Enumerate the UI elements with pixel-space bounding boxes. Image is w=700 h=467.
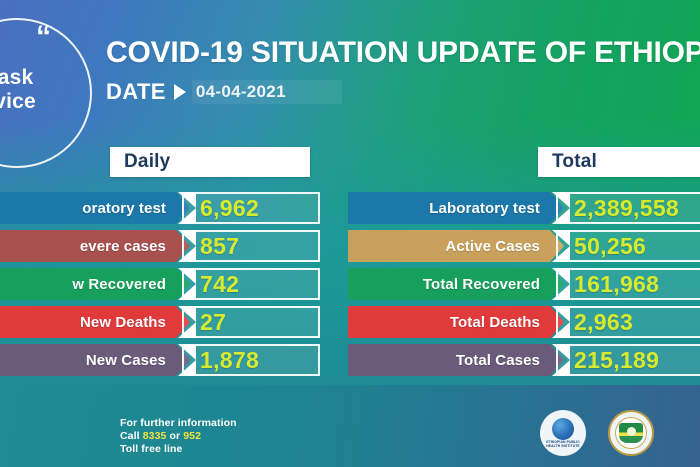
stat-row-label: oratory test xyxy=(0,192,190,224)
stat-row-value: 742 xyxy=(182,268,320,300)
hotline-number-2: 952 xyxy=(183,430,201,442)
stat-row-value: 2,963 xyxy=(556,306,700,338)
stat-row-value: 1,878 xyxy=(182,344,320,376)
daily-column-header-label: Daily xyxy=(110,151,170,173)
hotline-number-1: 8335 xyxy=(143,430,167,442)
footer-line-1: For further information xyxy=(120,417,237,430)
page-title: COVID-19 SITUATION UPDATE OF ETHIOPI xyxy=(106,36,700,70)
stat-row-value: 2,389,558 xyxy=(556,192,700,224)
footer-contact-info: For further information Call 8335 or 952… xyxy=(120,417,237,456)
stat-row-label: w Recovered xyxy=(0,268,190,300)
who-logo-caption: ETHIOPIAN PUBLIC HEALTH INSTITUTE xyxy=(540,440,586,448)
stat-row-label: Total Deaths xyxy=(348,306,564,338)
stat-row-value: 27 xyxy=(182,306,320,338)
daily-column-header: Daily xyxy=(110,147,310,177)
triangle-right-icon xyxy=(174,84,186,100)
footer-line-3: Toll free line xyxy=(120,443,237,456)
stat-row: Total Cases215,189 xyxy=(348,344,700,376)
stat-row: w Recovered742 xyxy=(0,268,320,300)
daily-stat-list: oratory test6,962evere cases857w Recover… xyxy=(0,192,320,382)
quotation-mark-icon: “ xyxy=(36,22,49,52)
stat-row-label: Laboratory test xyxy=(348,192,564,224)
ministry-of-health-emblem xyxy=(615,417,647,449)
stat-row: Total Deaths2,963 xyxy=(348,306,700,338)
badge-label-line2: ervice xyxy=(0,90,94,114)
stat-row: New Cases1,878 xyxy=(0,344,320,376)
footer-call-mid: or xyxy=(166,430,183,442)
globe-icon xyxy=(552,418,574,440)
date-label: DATE xyxy=(106,79,166,105)
stat-row-value: 215,189 xyxy=(556,344,700,376)
stat-row: Total Recovered161,968 xyxy=(348,268,700,300)
stat-row-value: 6,962 xyxy=(182,192,320,224)
ethiopian-public-health-institute-logo: ETHIOPIAN PUBLIC HEALTH INSTITUTE xyxy=(540,410,586,456)
stat-row: evere cases857 xyxy=(0,230,320,262)
stat-row-value: 50,256 xyxy=(556,230,700,262)
covid-situation-update-poster: “ Mask ervice COVID-19 SITUATION UPDATE … xyxy=(0,0,700,467)
footer-call-prefix: Call xyxy=(120,430,143,442)
stat-row-label: New Cases xyxy=(0,344,190,376)
shield-icon xyxy=(619,423,643,443)
stat-row-label: Total Cases xyxy=(348,344,564,376)
stat-row: oratory test6,962 xyxy=(0,192,320,224)
date-row: DATE 04-04-2021 xyxy=(106,78,342,106)
ministry-of-health-logo xyxy=(608,410,654,456)
stat-row: New Deaths27 xyxy=(0,306,320,338)
total-column-header-label: Total xyxy=(538,151,597,173)
badge-label-line1: Mask xyxy=(0,66,90,90)
footer-line-2: Call 8335 or 952 xyxy=(120,430,237,443)
stat-row: Laboratory test2,389,558 xyxy=(348,192,700,224)
total-column-header: Total xyxy=(538,147,700,177)
stat-row-value: 857 xyxy=(182,230,320,262)
stat-row-label: evere cases xyxy=(0,230,190,262)
organization-logos: ETHIOPIAN PUBLIC HEALTH INSTITUTE xyxy=(540,410,654,456)
stat-row-label: Total Recovered xyxy=(348,268,564,300)
stat-row: Active Cases50,256 xyxy=(348,230,700,262)
date-value: 04-04-2021 xyxy=(192,80,342,104)
stat-row-label: New Deaths xyxy=(0,306,190,338)
stat-row-value: 161,968 xyxy=(556,268,700,300)
stat-row-label: Active Cases xyxy=(348,230,564,262)
total-stat-list: Laboratory test2,389,558Active Cases50,2… xyxy=(348,192,700,382)
